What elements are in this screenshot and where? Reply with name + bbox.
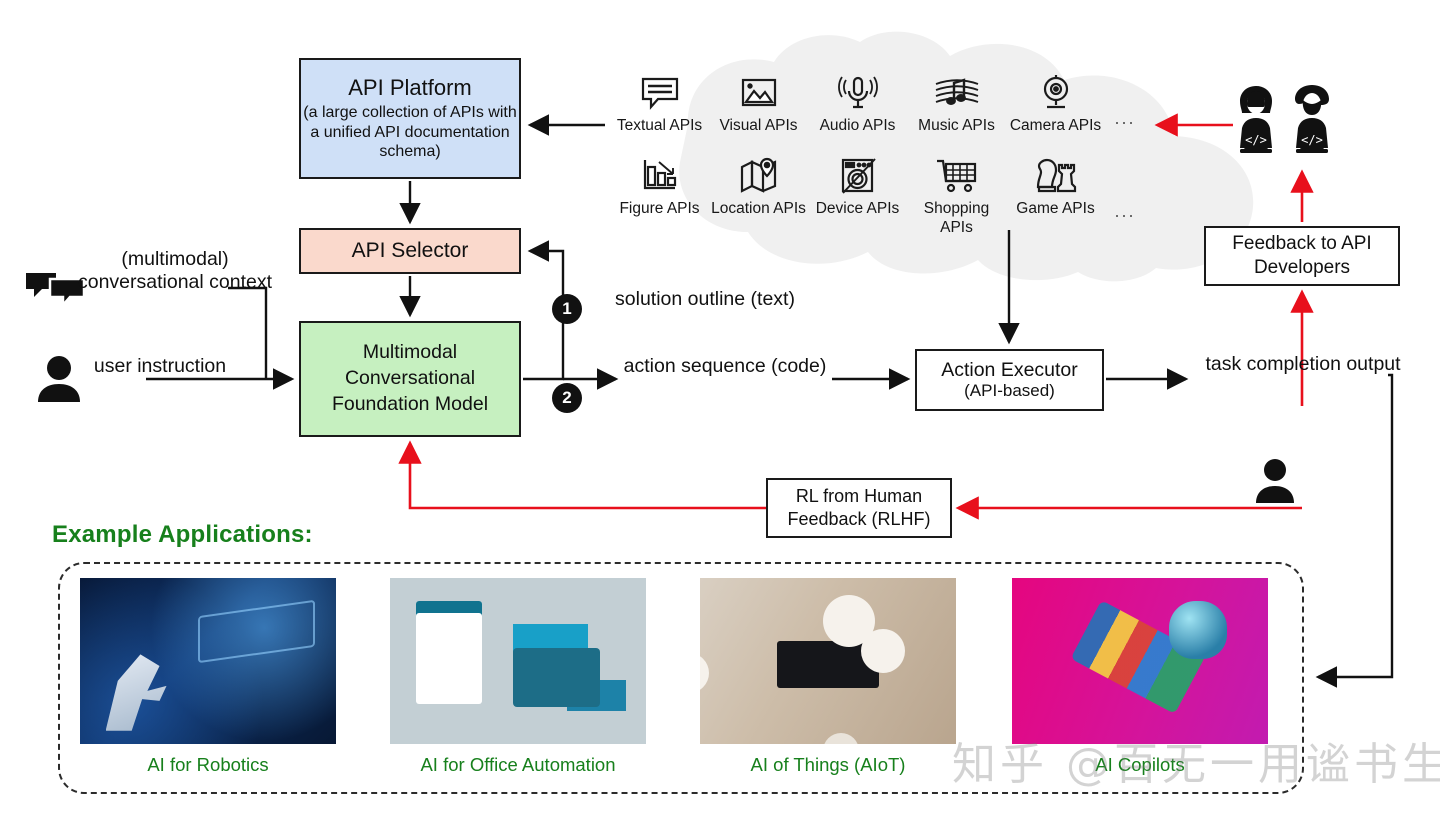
example-app-caption: AI for Robotics	[80, 754, 336, 776]
api-label: Audio APIs	[820, 117, 896, 135]
api-label: Device APIs	[816, 200, 900, 218]
api-platform-subtitle: (a large collection of APIs with a unifi…	[301, 103, 519, 162]
svg-text:</>: </>	[1301, 133, 1323, 147]
foundation-model-box[interactable]: Multimodal Conversational Foundation Mod…	[299, 321, 521, 437]
api-row-1: Textual APIs Visual APIs	[610, 68, 1170, 135]
rlhf-box[interactable]: RL from Human Feedback (RLHF)	[766, 478, 952, 538]
action-executor-box[interactable]: Action Executor (API-based)	[915, 349, 1104, 411]
api-item-visual[interactable]: Visual APIs	[709, 68, 808, 135]
api-item-game[interactable]: Game APIs	[1006, 151, 1105, 237]
foundation-model-title: Multimodal Conversational Foundation Mod…	[301, 340, 519, 418]
example-app-aiot[interactable]: AI of Things (AIoT)	[700, 578, 956, 776]
chess-pieces-icon	[1034, 151, 1078, 197]
step-badge-2: 2	[552, 383, 582, 413]
office-automation-thumbnail	[390, 578, 646, 744]
api-label: Shopping APIs	[907, 200, 1006, 237]
text-bubble-icon	[639, 68, 681, 114]
api-platform-box[interactable]: API Platform (a large collection of APIs…	[299, 58, 521, 179]
api-item-shopping[interactable]: Shopping APIs	[907, 151, 1006, 237]
user-instruction-label: user instruction	[80, 355, 240, 378]
api-selector-title: API Selector	[352, 239, 469, 263]
example-app-office-automation[interactable]: AI for Office Automation	[390, 578, 646, 776]
api-icon-grid: Textual APIs Visual APIs	[610, 68, 1170, 237]
api-platform-title: API Platform	[348, 75, 471, 101]
map-pin-icon	[738, 151, 780, 197]
api-label: Game APIs	[1016, 200, 1094, 218]
webcam-icon	[1035, 68, 1077, 114]
svg-text:</>: </>	[1245, 133, 1267, 147]
multimodal-context-label: (multimodal) conversational context	[60, 248, 290, 295]
feedback-title: Feedback to API Developers	[1206, 232, 1398, 280]
action-executor-subtitle: (API-based)	[964, 381, 1055, 401]
solution-outline-label: solution outline (text)	[590, 288, 820, 311]
api-item-device[interactable]: Device APIs	[808, 151, 907, 237]
api-label: Textual APIs	[617, 117, 702, 135]
image-picture-icon	[738, 68, 780, 114]
washing-machine-icon	[837, 151, 879, 197]
arrow-rlhf-to-model	[410, 443, 766, 508]
microphone-icon	[837, 68, 879, 114]
feedback-to-developers-box[interactable]: Feedback to API Developers	[1204, 226, 1400, 286]
action-executor-title: Action Executor	[941, 359, 1078, 382]
bar-chart-icon	[639, 151, 681, 197]
api-label: Camera APIs	[1010, 117, 1101, 135]
api-item-music[interactable]: Music APIs	[907, 68, 1006, 135]
api-item-textual[interactable]: Textual APIs	[610, 68, 709, 135]
api-item-camera[interactable]: Camera APIs	[1006, 68, 1105, 135]
task-completion-label: task completion output	[1196, 353, 1410, 376]
example-app-caption: AI of Things (AIoT)	[700, 754, 956, 776]
user-person-icon	[36, 355, 82, 408]
api-item-location[interactable]: Location APIs	[709, 151, 808, 237]
music-notes-icon	[934, 68, 980, 114]
end-user-icon	[1254, 458, 1296, 509]
ellipsis-row1: ...	[1105, 68, 1145, 135]
api-label: Figure APIs	[619, 200, 699, 218]
api-item-audio[interactable]: Audio APIs	[808, 68, 907, 135]
smart-home-thumbnail	[700, 578, 956, 744]
api-selector-box[interactable]: API Selector	[299, 228, 521, 274]
api-developers-icon: </> </>	[1238, 84, 1362, 173]
watermark-text: 知乎 @百无一用谧书生	[952, 728, 1440, 792]
action-sequence-label: action sequence (code)	[610, 355, 840, 378]
shopping-cart-icon	[935, 151, 979, 197]
example-app-caption: AI for Office Automation	[390, 754, 646, 776]
example-applications-heading: Example Applications:	[52, 521, 313, 549]
robot-arm-thumbnail	[80, 578, 336, 744]
api-label: Location APIs	[711, 200, 806, 218]
step-badge-1: 1	[552, 294, 582, 324]
example-app-robotics[interactable]: AI for Robotics	[80, 578, 336, 776]
rlhf-title: RL from Human Feedback (RLHF)	[768, 485, 950, 532]
diagram-canvas: Textual APIs Visual APIs	[0, 0, 1440, 813]
api-item-figure[interactable]: Figure APIs	[610, 151, 709, 237]
api-label: Visual APIs	[719, 117, 797, 135]
copilot-thumbnail	[1012, 578, 1268, 744]
api-row-2: Figure APIs Location APIs	[610, 151, 1170, 237]
ellipsis-row2: ...	[1105, 151, 1145, 237]
arrow-output-to-applications	[1318, 375, 1392, 677]
api-label: Music APIs	[918, 117, 995, 135]
